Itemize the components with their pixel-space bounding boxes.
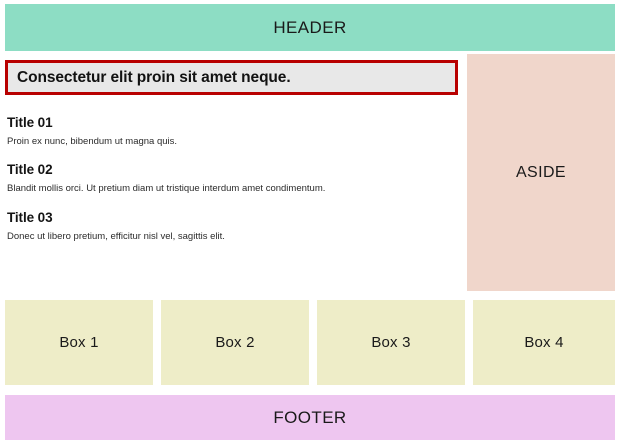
header-label: HEADER [273,18,346,38]
section-body: Donec ut libero pretium, efficitur nisl … [7,231,458,243]
sidebar-aside: ASIDE [467,54,615,291]
content-section: Title 03 Donec ut libero pretium, effici… [5,210,458,243]
box-item-4: Box 4 [473,300,615,385]
content-section: Title 01 Proin ex nunc, bibendum ut magn… [5,115,458,148]
box-item-3: Box 3 [317,300,465,385]
page-footer: FOOTER [5,395,615,440]
page-layout: HEADER Consectetur elit proin sit amet n… [0,0,620,447]
content-section: Title 02 Blandit mollis orci. Ut pretium… [5,162,458,195]
footer-label: FOOTER [273,408,346,428]
aside-label: ASIDE [516,164,566,182]
section-body: Blandit mollis orci. Ut pretium diam ut … [7,183,458,195]
section-title: Title 03 [7,210,458,225]
box-item-2: Box 2 [161,300,309,385]
box-row: Box 1 Box 2 Box 3 Box 4 [5,300,615,385]
section-title: Title 02 [7,162,458,177]
section-title: Title 01 [7,115,458,130]
highlighted-heading-text: Consectetur elit proin sit amet neque. [17,69,291,87]
box-item-1: Box 1 [5,300,153,385]
main-content: Consectetur elit proin sit amet neque. T… [5,54,458,291]
section-body: Proin ex nunc, bibendum ut magna quis. [7,136,458,148]
page-header: HEADER [5,4,615,51]
highlighted-heading: Consectetur elit proin sit amet neque. [5,60,458,95]
content-band: Consectetur elit proin sit amet neque. T… [5,54,615,291]
